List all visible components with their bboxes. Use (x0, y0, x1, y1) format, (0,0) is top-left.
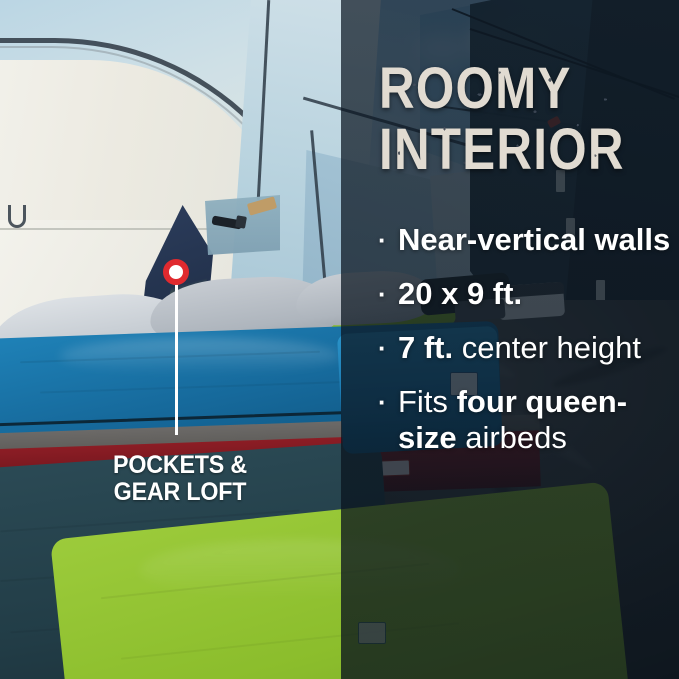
feature-list: · Near-vertical walls · 20 x 9 ft. · 7 f… (378, 222, 678, 474)
gear-hook-icon (8, 205, 26, 228)
callout-line-2: GEAR LOFT (13, 479, 348, 506)
headline-line-1: ROOMY (379, 58, 631, 119)
map-pin-dot-icon (163, 259, 189, 285)
list-item-text: Near-vertical walls (398, 222, 678, 258)
feature-text-bold: 20 x 9 ft. (398, 276, 522, 311)
feature-text-bold: 7 ft. (398, 330, 453, 365)
feature-text-regular: Fits (398, 384, 457, 419)
list-item: · 7 ft. center height (378, 330, 678, 366)
bullet-dot-icon: · (378, 330, 398, 366)
feature-text-bold: Near-vertical walls (398, 222, 670, 257)
bullet-dot-icon: · (378, 222, 398, 258)
callout-leader-line (175, 283, 178, 435)
list-item-text: Fits four queen-size airbeds (398, 384, 678, 456)
list-item-text: 7 ft. center height (398, 330, 678, 366)
page-title: ROOMY INTERIOR (379, 58, 631, 180)
bullet-dot-icon: · (378, 276, 398, 312)
list-item: · Fits four queen-size airbeds (378, 384, 678, 456)
feature-text-regular: airbeds (457, 420, 567, 455)
headline-line-2: INTERIOR (379, 119, 631, 180)
callout-label: POCKETS & GEAR LOFT (13, 452, 348, 506)
bullet-dot-icon: · (378, 384, 398, 420)
feature-text-regular: center height (453, 330, 641, 365)
list-item-text: 20 x 9 ft. (398, 276, 678, 312)
flashlight-head (235, 215, 247, 229)
list-item: · Near-vertical walls (378, 222, 678, 258)
list-item: · 20 x 9 ft. (378, 276, 678, 312)
callout-line-1: POCKETS & (13, 452, 348, 479)
product-feature-image: oleman (0, 0, 679, 679)
